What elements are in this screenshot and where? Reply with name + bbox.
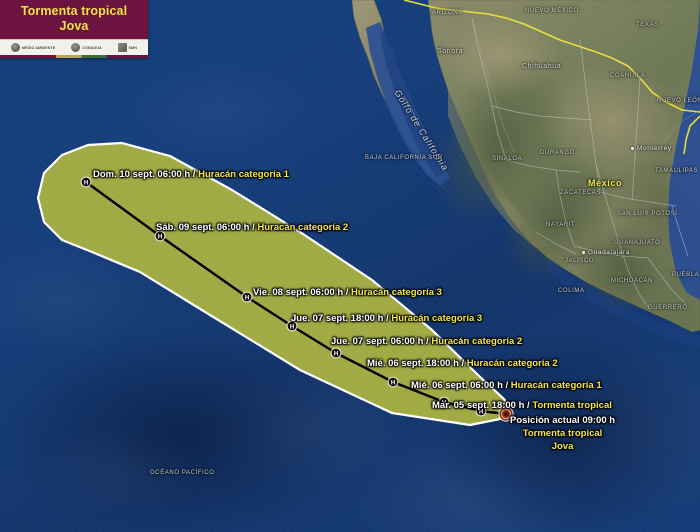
agency-seal-icon <box>118 43 127 52</box>
track-node: H <box>287 321 298 332</box>
track-node: H <box>439 397 450 408</box>
track-node-symbol: H <box>334 351 338 357</box>
track-node: H <box>155 231 166 242</box>
current-position-marker <box>498 406 513 421</box>
track-node: H <box>81 177 92 188</box>
banner-title: Tormenta tropical Jova <box>0 0 148 39</box>
agency-logo: MEDIO AMBIENTE <box>11 43 56 52</box>
forecast-cone <box>38 143 505 425</box>
track-node: H <box>388 377 399 388</box>
banner-title-line2: Jova <box>4 19 144 34</box>
banner-title-line1: Tormenta tropical <box>21 4 127 18</box>
track-node-symbol: H <box>245 295 249 301</box>
agency-logo-strip: MEDIO AMBIENTECONAGUASMN <box>0 39 148 55</box>
track-node-symbol: H <box>442 400 446 406</box>
banner-footer-stripe <box>0 55 148 58</box>
hurricane-forecast-map: SonoraChihuahuaGolfo de CaliforniaBAJA C… <box>0 0 700 532</box>
track-node-symbol: H <box>158 234 162 240</box>
track-node-symbol: H <box>84 180 88 186</box>
agency-seal-icon <box>71 43 80 52</box>
agency-name: CONAGUA <box>82 46 102 50</box>
agency-logo: CONAGUA <box>71 43 102 52</box>
track-node-symbol: H <box>479 409 483 415</box>
track-node: H <box>331 348 342 359</box>
agency-seal-icon <box>11 43 20 52</box>
agency-name: SMN <box>129 46 137 50</box>
storm-title-banner: Tormenta tropical Jova MEDIO AMBIENTECON… <box>0 0 148 58</box>
forecast-cone-and-track: HHHHHHHH <box>0 0 700 532</box>
agency-name: MEDIO AMBIENTE <box>22 46 56 50</box>
track-node-symbol: H <box>290 324 294 330</box>
track-node-symbol: H <box>391 380 395 386</box>
track-node: H <box>242 292 253 303</box>
track-node: H <box>476 406 487 417</box>
agency-logo: SMN <box>118 43 137 52</box>
